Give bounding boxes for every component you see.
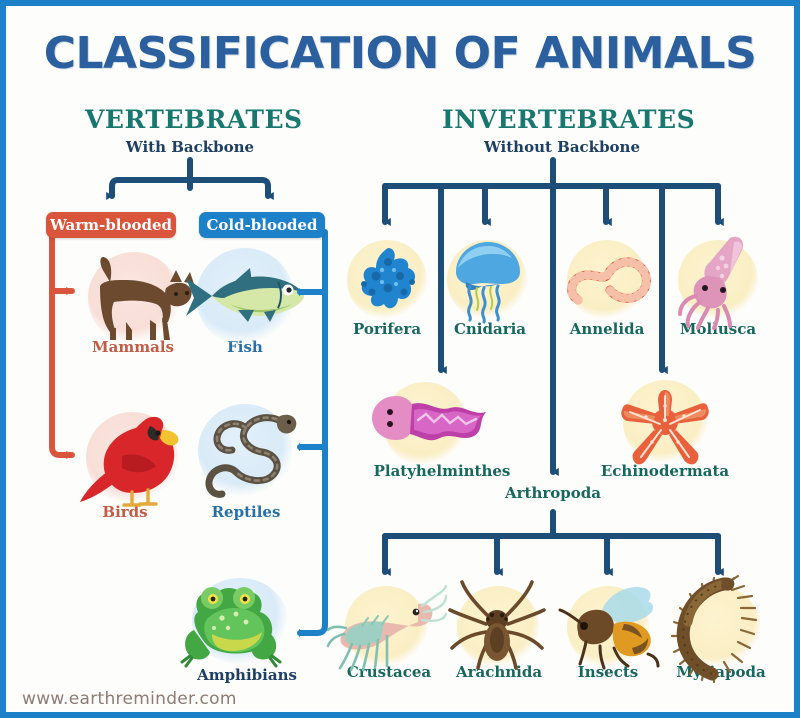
warm-blooded-pill[interactable]: Warm-blooded: [46, 212, 176, 238]
connector-lines: [0, 0, 800, 718]
cold-blooded-pill[interactable]: Cold-blooded: [199, 212, 325, 238]
classification-of-animals-poster: CLASSIFICATION OF ANIMALS VERTEBRATES Wi…: [0, 0, 800, 718]
